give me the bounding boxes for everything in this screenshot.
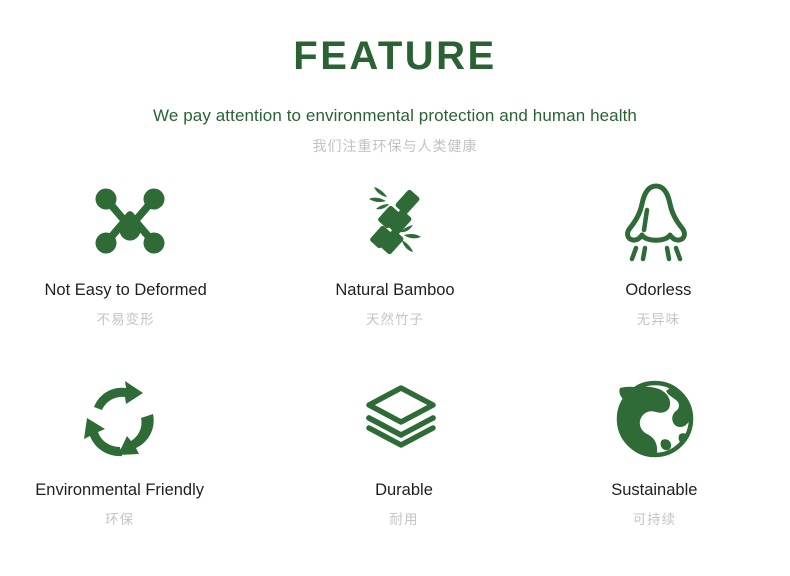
nose-icon [617,175,695,267]
page-title: FEATURE [0,36,790,76]
feature-label-cn: 耐用 [389,512,418,528]
subtitle-chinese: 我们注重环保与人类健康 [0,126,790,155]
feature-label-cn: 环保 [105,512,134,528]
molecule-lattice-icon [92,175,168,267]
feature-label-en: Not Easy to Deformed [45,281,207,301]
feature-label-en: Sustainable [611,481,697,501]
bamboo-icon [356,175,432,267]
feature-item: Not Easy to Deformed 不易变形 [0,175,263,371]
feature-label-en: Odorless [625,281,691,301]
feature-label-cn: 无异味 [637,312,681,328]
feature-label-en: Durable [375,481,433,501]
feature-item: Natural Bamboo 天然竹子 [263,175,526,371]
feature-label-en: Environmental Friendly [35,481,204,501]
feature-item: Sustainable 可持续 [527,371,790,567]
feature-label-en: Natural Bamboo [335,281,454,301]
feature-item: Odorless 无异味 [527,175,790,371]
layers-stack-icon [363,371,439,467]
feature-label-cn: 天然竹子 [366,312,424,328]
globe-leaf-icon [614,371,696,467]
subtitle-english: We pay attention to environmental protec… [0,76,790,126]
recycle-icon [82,371,162,467]
feature-label-cn: 可持续 [633,512,677,528]
section-header: FEATURE We pay attention to environmenta… [0,0,790,155]
feature-item: Environmental Friendly 环保 [0,371,263,567]
feature-item: Durable 耐用 [263,371,526,567]
feature-section: FEATURE We pay attention to environmenta… [0,0,790,576]
feature-label-cn: 不易变形 [97,312,155,328]
feature-grid: Not Easy to Deformed 不易变形 [0,175,790,567]
